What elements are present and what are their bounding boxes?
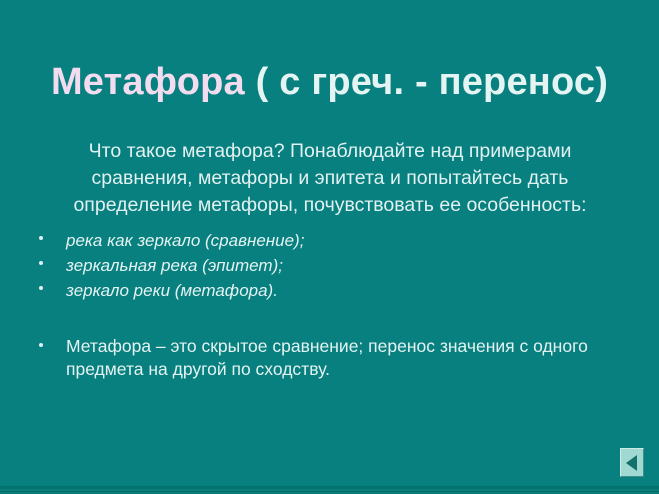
list-item-text: зеркало реки (метафора). [66, 281, 278, 300]
bullet-dot-icon [39, 236, 43, 240]
slide-title: Метафора ( с греч. - перенос) [0, 59, 659, 105]
example-list: река как зеркало (сравнение); зеркальная… [30, 228, 470, 303]
lead-paragraph: Что такое метафора? Понаблюдайте над при… [46, 138, 614, 219]
list-item: Метафора – это скрытое сравнение; перено… [30, 335, 630, 381]
bullet-dot-icon [39, 343, 43, 347]
slide-title-suffix: ( с греч. - перенос) [245, 61, 608, 103]
definition-list: Метафора – это скрытое сравнение; перено… [30, 335, 630, 381]
list-item: зеркальная река (эпитет); [30, 253, 470, 278]
slide-title-keyword: Метафора [51, 61, 245, 103]
slide-bottom-edge [0, 486, 659, 494]
bullet-dot-icon [39, 261, 43, 265]
bullet-dot-icon [39, 286, 43, 290]
list-item-text: Метафора – это скрытое сравнение; перено… [66, 336, 588, 379]
presentation-slide: Метафора ( с греч. - перенос) Что такое … [0, 0, 659, 494]
list-item: зеркало реки (метафора). [30, 278, 470, 303]
back-navigation-button[interactable] [620, 448, 644, 477]
triangle-left-icon [626, 455, 637, 471]
list-item-text: зеркальная река (эпитет); [66, 256, 283, 275]
list-item-text: река как зеркало (сравнение); [66, 231, 304, 250]
list-item: река как зеркало (сравнение); [30, 228, 470, 253]
